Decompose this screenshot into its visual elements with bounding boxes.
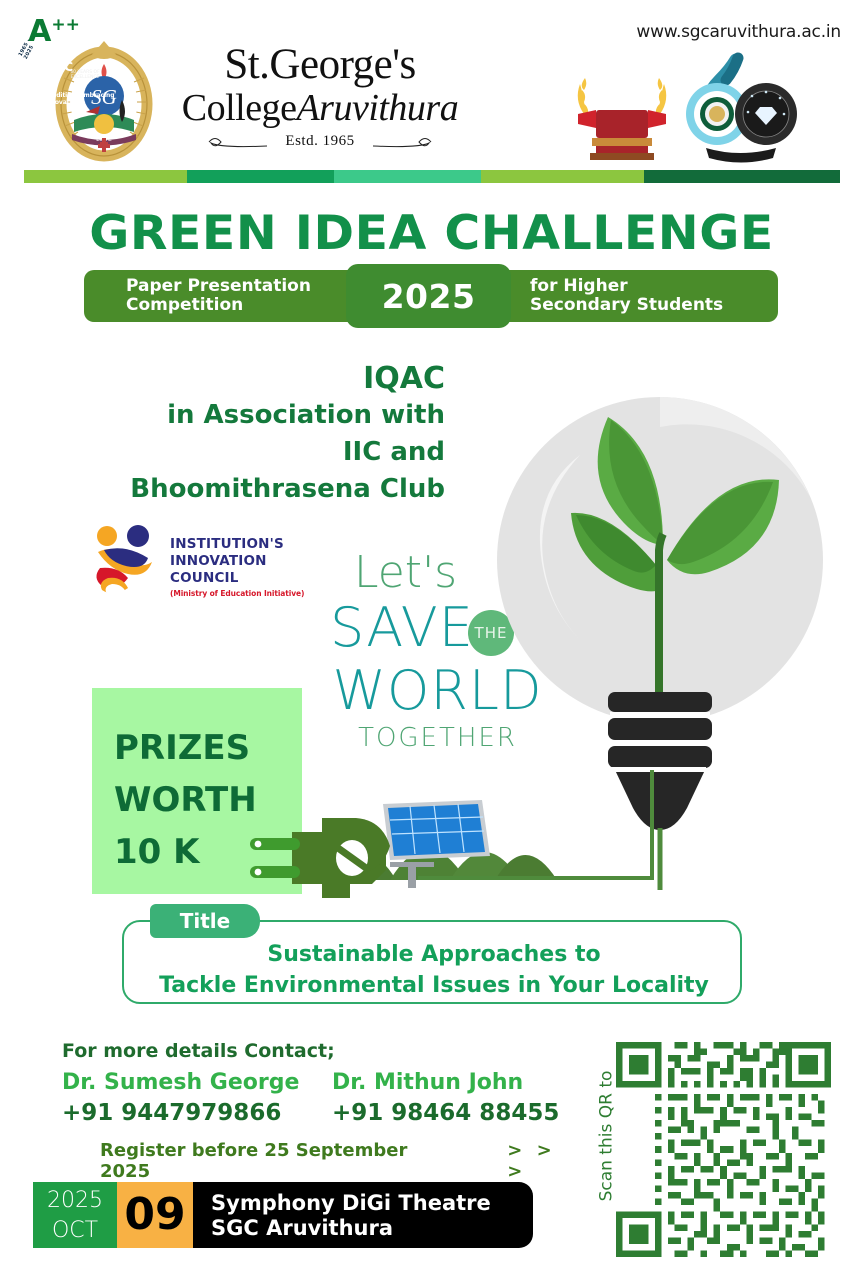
topic-line1: Sustainable Approaches to [124, 939, 744, 970]
subtitle-right-line1: for Higher [530, 277, 780, 296]
event-subtitle-band: Paper Presentation Competition 2025 for … [84, 270, 778, 322]
contacts-block: For more details Contact; Dr. Sumesh Geo… [62, 1040, 582, 1182]
iic-text-line3: COUNCIL [170, 570, 305, 587]
topic-title-tag: Title [150, 904, 260, 938]
contact-name: Dr. Mithun John [332, 1068, 582, 1098]
plug-solar-landscape-illustration [240, 770, 670, 900]
prizes-line1: PRIZES [114, 722, 294, 774]
jubilee-60-logo-icon [680, 52, 798, 164]
chevron-right-icon: > > > [507, 1140, 582, 1182]
subtitle-left-line2: Competition [126, 296, 376, 315]
contact-person: Dr. Sumesh George +91 9447979866 [62, 1068, 312, 1128]
register-before-text: Register before 25 September 2025 [100, 1140, 449, 1182]
naac-grade-text: A++ [0, 10, 108, 47]
organiser-line-bhoomithrasena: Bhoomithrasena Club [60, 471, 445, 508]
organiser-line-association: in Association with [60, 397, 445, 434]
qr-code-icon[interactable] [616, 1042, 831, 1257]
event-main-title: GREEN IDEA CHALLENGE [0, 206, 863, 261]
iic-ministry-subtitle: (Ministry of Education Initiative) [170, 589, 305, 598]
stripe-segment [481, 170, 644, 183]
college-website: www.sgcaruvithura.ac.in [636, 22, 841, 42]
college-estd-line: Estd. 1965 [165, 133, 475, 150]
iic-logo-text: INSTITUTION'S INNOVATION COUNCIL (Minist… [170, 536, 305, 598]
naac-grade-plus: ++ [51, 15, 80, 35]
event-date-venue-bar: 2025 OCT 09 Symphony DiGi Theatre SGC Ar… [33, 1182, 533, 1248]
flourish-right-icon [361, 135, 433, 149]
organisers-block: IQAC in Association with IIC and Bhoomit… [60, 360, 445, 508]
college-name-line1: St.George's [165, 42, 475, 87]
jubilee-tagline: Honouring Tradition, Embracing Innovatio… [8, 92, 116, 106]
contact-phone[interactable]: +91 9447979866 [62, 1098, 312, 1128]
color-stripe-divider [24, 170, 840, 183]
college-wordmark: St.George's CollegeAruvithura Estd. 1965 [165, 42, 475, 150]
contact-person: Dr. Mithun John +91 98464 88455 [332, 1068, 582, 1128]
poster-canvas: www.sgcaruvithura.ac.in SG LOVE [0, 0, 863, 1280]
event-year: 2025 [33, 1186, 117, 1216]
stripe-segment [644, 170, 840, 183]
naac-label: NAAC [26, 60, 82, 74]
event-month: OCT [33, 1216, 117, 1246]
subtitle-right-text: for Higher Secondary Students [530, 277, 780, 315]
stripe-segment [187, 170, 334, 183]
college-name-line2: CollegeAruvithura [165, 87, 475, 129]
contact-name: Dr. Sumesh George [62, 1068, 312, 1098]
organiser-line-iqac: IQAC [60, 360, 445, 397]
naac-badge-icon [568, 56, 676, 164]
contacts-heading: For more details Contact; [62, 1040, 582, 1062]
stripe-segment [334, 170, 481, 183]
event-day: 09 [117, 1182, 193, 1248]
organiser-line-iic: IIC and [60, 434, 445, 471]
college-word-aruvithura: Aruvithura [296, 87, 458, 129]
iic-text-line2: INNOVATION [170, 553, 305, 570]
college-word-college: College [182, 87, 297, 129]
registration-deadline-row: Register before 25 September 2025 > > > [100, 1140, 582, 1182]
stripe-segment [24, 170, 187, 183]
topic-title-text: Sustainable Approaches to Tackle Environ… [124, 939, 744, 1001]
topic-title-box: Title Sustainable Approaches to Tackle E… [122, 920, 742, 1004]
estd-text: Estd. 1965 [285, 133, 354, 150]
flourish-left-icon [207, 135, 279, 149]
iic-emblem-icon [88, 522, 166, 612]
subtitle-left-text: Paper Presentation Competition [126, 277, 376, 315]
venue-line1: Symphony DiGi Theatre [211, 1191, 533, 1216]
subtitle-right-line2: Secondary Students [530, 296, 780, 315]
poster-header: www.sgcaruvithura.ac.in SG LOVE [0, 0, 863, 170]
event-month-block: 2025 OCT [33, 1182, 117, 1248]
venue-line2: SGC Aruvithura [211, 1216, 533, 1241]
contacts-row: Dr. Sumesh George +91 9447979866 Dr. Mit… [62, 1068, 582, 1128]
qr-block: Scan this QR to Register [586, 1040, 836, 1260]
subtitle-left-line1: Paper Presentation [126, 277, 376, 296]
contact-phone[interactable]: +91 98464 88455 [332, 1098, 582, 1128]
iic-logo-block: INSTITUTION'S INNOVATION COUNCIL (Minist… [88, 522, 303, 614]
event-year-badge: 2025 [346, 264, 511, 328]
event-venue-block: Symphony DiGi Theatre SGC Aruvithura [193, 1182, 533, 1248]
iic-text-line1: INSTITUTION'S [170, 536, 305, 553]
slogan-save: SAVE [330, 598, 474, 658]
topic-line2: Tackle Environmental Issues in Your Loca… [124, 970, 744, 1001]
